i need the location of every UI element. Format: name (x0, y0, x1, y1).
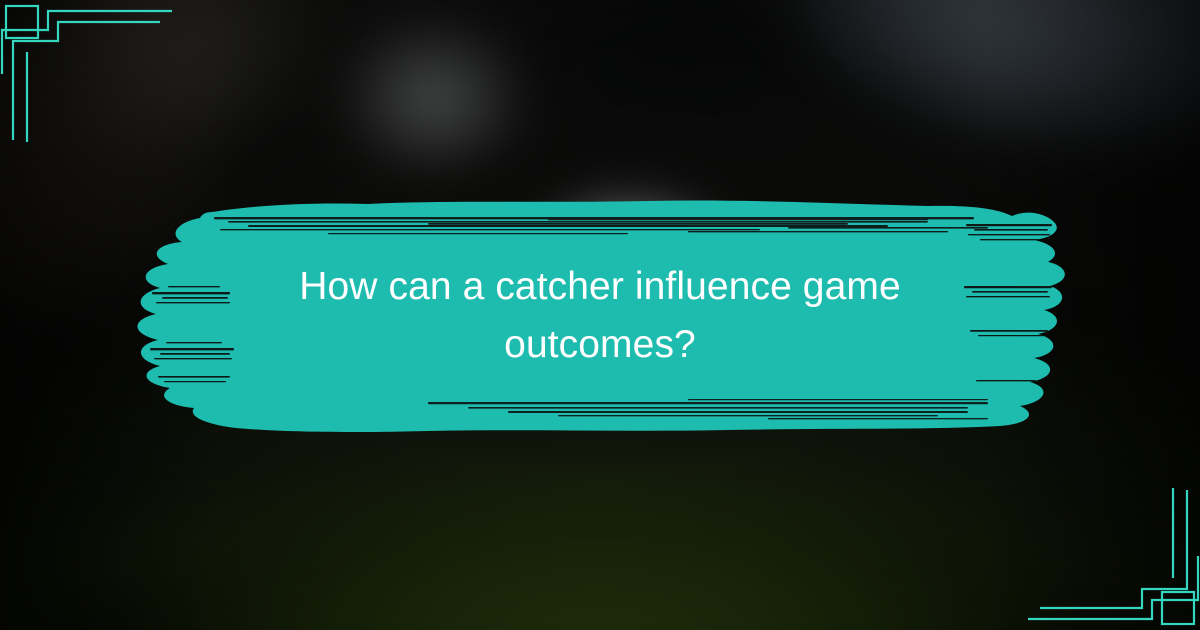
corner-bracket-icon (0, 0, 180, 150)
question-card: How can a catcher influence game outcome… (0, 0, 1200, 630)
page-title: How can a catcher influence game outcome… (150, 196, 1050, 436)
corner-ornament-top-left (0, 0, 180, 150)
corner-bracket-icon (1020, 480, 1200, 630)
corner-ornament-bottom-right (1020, 480, 1200, 630)
